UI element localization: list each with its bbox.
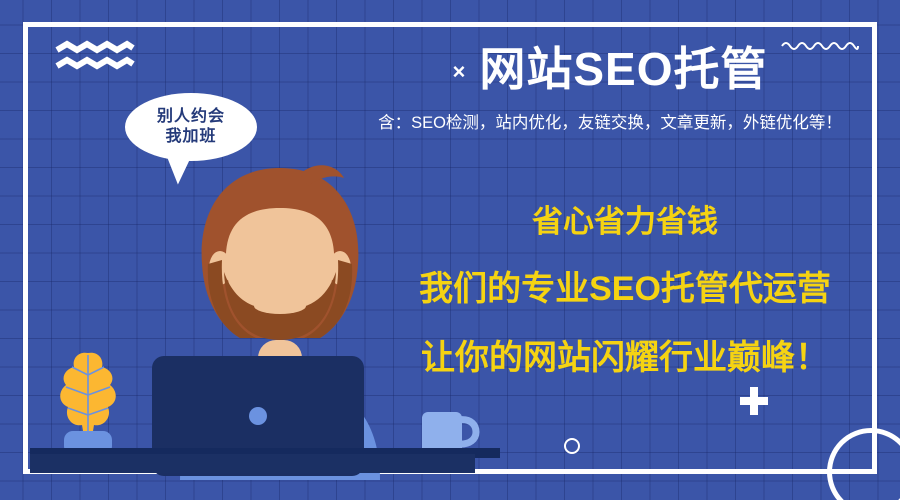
circle-outline-small-icon [564,438,580,454]
title-bullet-mark: × [452,61,465,83]
plus-mark-icon [740,387,768,415]
speech-bubble-line-2: 我加班 [165,127,216,147]
title-row: × 网站SEO托管 [330,44,890,95]
desk-front-panel [30,454,475,473]
slogan-block: 省心省力省钱 我们的专业SEO托管代运营 让你的网站闪耀行业巅峰！ [380,196,870,379]
potted-plant-illustration [48,345,128,455]
page-subtitle: 含：SEO检测，站内优化，友链交换，文章更新，外链优化等！ [330,109,890,133]
slogan-line-2: 我们的专业SEO托管代运营 [380,261,870,310]
person-mouth [254,298,306,314]
slogan-line-1: 省心省力省钱 [380,196,870,241]
seo-promo-banner: × 网站SEO托管 含：SEO检测，站内优化，友链交换，文章更新，外链优化等！ … [0,0,900,500]
plant-leaf [60,353,116,437]
slogan-line-3: 让你的网站闪耀行业巅峰！ [380,330,870,379]
speech-bubble: 别人约会 我加班 [125,93,257,161]
laptop-logo-icon [249,407,267,425]
person-at-laptop-illustration [140,160,420,480]
headline-block: × 网站SEO托管 含：SEO检测，站内优化，友链交换，文章更新，外链优化等！ [330,44,890,133]
speech-bubble-line-1: 别人约会 [157,107,225,127]
page-title: 网站SEO托管 [479,44,767,95]
wave-lines-icon [55,40,135,74]
